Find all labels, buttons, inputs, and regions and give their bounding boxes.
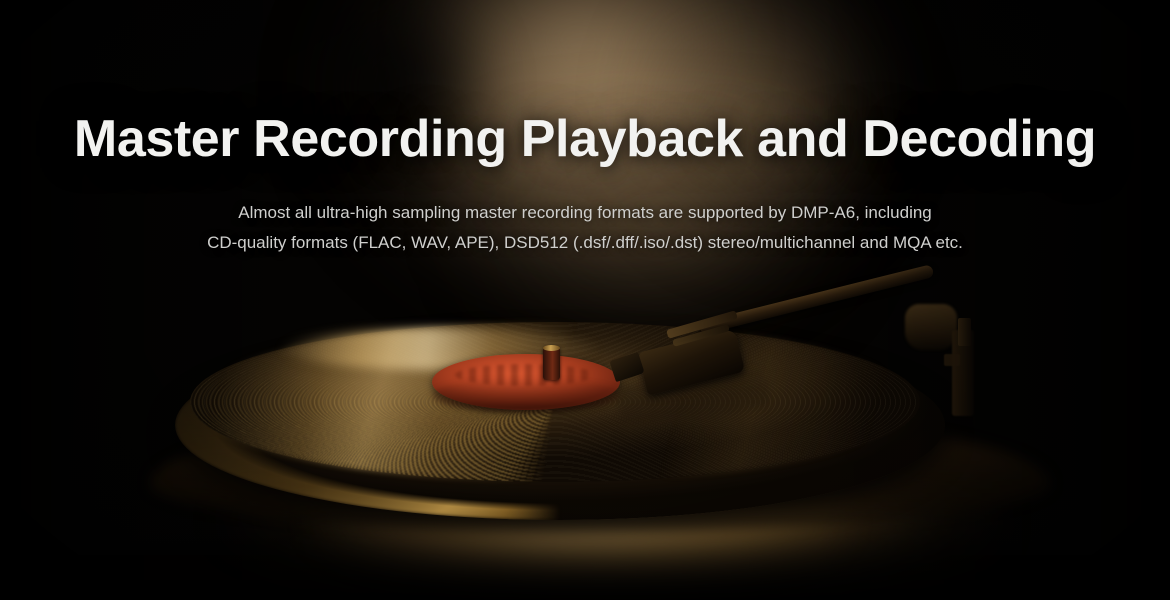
record-label-shading (432, 378, 620, 412)
hero-banner: Master Recording Playback and Decoding A… (0, 0, 1170, 600)
arm-rest-head (958, 318, 971, 346)
background-scene (0, 0, 1170, 600)
arm-rest-clip (944, 354, 960, 366)
spindle-cap (543, 345, 560, 351)
tonearm-pivot (905, 304, 957, 350)
smoke-dark-notch (300, 0, 510, 200)
turntable (0, 300, 1170, 600)
spindle-icon (543, 346, 560, 380)
